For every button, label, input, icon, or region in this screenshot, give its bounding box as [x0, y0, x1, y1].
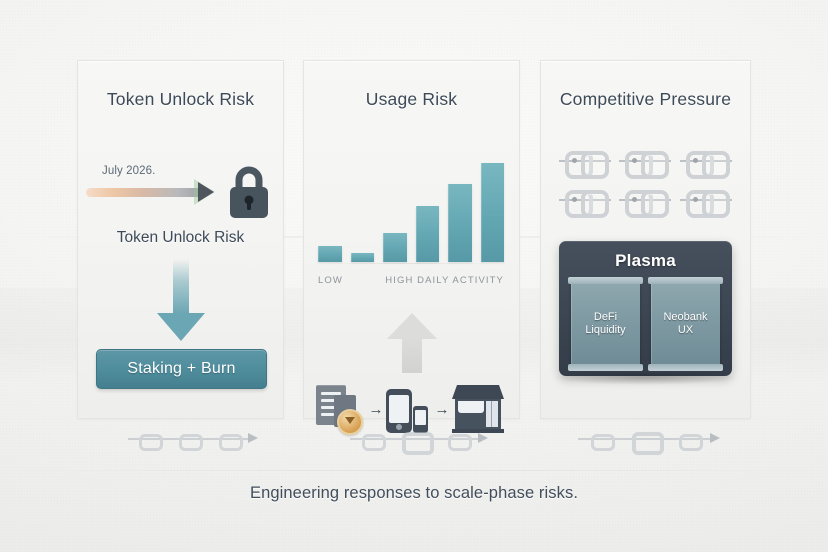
infographic-canvas: Token Unlock Risk July 2026. Token Unloc… — [0, 0, 828, 552]
card-mid-title: Token Unlock Risk — [78, 229, 283, 247]
chain-link-icon — [559, 150, 611, 172]
adoption-flow: → → — [316, 371, 508, 433]
figure-caption: Engineering responses to scale-phase ris… — [0, 484, 828, 503]
bar-3 — [383, 233, 407, 262]
padlock-icon — [225, 164, 273, 220]
chain-link-icon — [619, 189, 671, 211]
up-arrow-head — [387, 313, 437, 339]
down-arrow-head — [157, 313, 205, 341]
chain-link-icon — [680, 150, 732, 172]
pillar-neobank-ux: NeobankUX — [651, 283, 720, 365]
arrow-shaft — [86, 188, 206, 197]
chain-link-icon — [680, 189, 732, 211]
card-title: Usage Risk — [304, 89, 519, 110]
pillar-group: DeFiLiquidity NeobankUX — [571, 283, 720, 365]
document-coin-icon — [316, 383, 366, 433]
bar-6 — [481, 163, 505, 262]
up-arrow-icon — [387, 313, 437, 373]
plasma-panel[interactable]: Plasma DeFiLiquidity NeobankUX — [559, 241, 732, 376]
up-arrow-shaft — [402, 338, 422, 373]
store-window — [458, 401, 484, 413]
card-usage-risk[interactable]: Usage Risk LOW HIGH DAILY ACTIVITY → — [303, 60, 520, 419]
arrow-head — [198, 182, 214, 202]
gradient-right-arrow-icon — [86, 181, 226, 203]
chain-divider-3 — [578, 428, 710, 450]
chain-divider-1 — [128, 428, 248, 450]
chain-divider-2 — [350, 428, 478, 450]
storefront-icon — [452, 385, 504, 433]
bar-2 — [351, 253, 375, 262]
card-competitive-pressure[interactable]: Competitive Pressure Plasma DeFiLiquidit… — [540, 60, 751, 419]
card-token-unlock-risk[interactable]: Token Unlock Risk July 2026. Token Unloc… — [77, 60, 284, 419]
plasma-panel-shadow — [551, 373, 740, 385]
card-title: Competitive Pressure — [541, 89, 750, 110]
staking-burn-button[interactable]: Staking + Burn — [96, 349, 267, 389]
down-arrow-icon — [157, 259, 205, 341]
usage-bar-chart: LOW HIGH DAILY ACTIVITY — [318, 126, 504, 286]
store-door — [486, 401, 498, 427]
bar-4 — [416, 206, 440, 262]
down-arrow-shaft — [173, 259, 189, 315]
mobile-devices-icon — [386, 381, 432, 433]
phone-large-icon — [386, 389, 412, 433]
plasma-panel-title: Plasma — [559, 251, 732, 271]
bar-1 — [318, 246, 342, 262]
unlock-date-label: July 2026. — [102, 165, 155, 177]
bar-series — [318, 150, 504, 262]
store-roof — [452, 385, 504, 399]
card-title: Token Unlock Risk — [78, 89, 283, 110]
chart-baseline — [314, 263, 508, 264]
caption-divider — [0, 470, 828, 471]
chain-link-icon — [559, 189, 611, 211]
chart-axis-labels: LOW HIGH DAILY ACTIVITY — [318, 275, 504, 286]
axis-label-low: LOW — [318, 275, 343, 286]
pillar-defi-liquidity: DeFiLiquidity — [571, 283, 640, 365]
chain-link-icon — [619, 150, 671, 172]
chain-link-grid — [555, 141, 736, 219]
axis-label-high: HIGH DAILY ACTIVITY — [385, 275, 504, 286]
bar-5 — [448, 184, 472, 262]
